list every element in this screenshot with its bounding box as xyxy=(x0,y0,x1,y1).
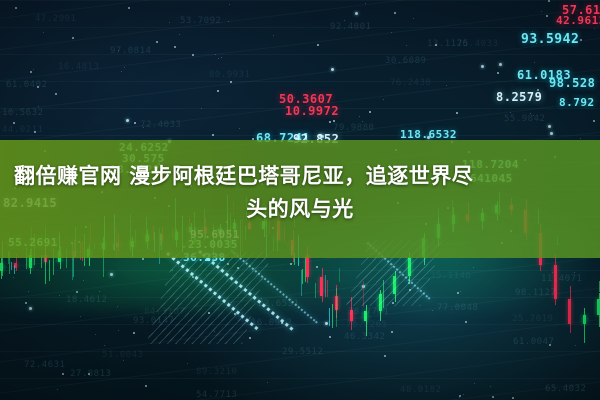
page-title-line1: 翻倍赚官网 漫步阿根廷巴塔哥尼亚，追逐世界尽 xyxy=(14,164,473,188)
page-title: 翻倍赚官网 漫步阿根廷巴塔哥尼亚，追逐世界尽 头的风与光 xyxy=(14,160,586,226)
screenshot-stage: 47.290197.081472.403316.481361.040253.70… xyxy=(0,0,600,400)
page-title-line2: 头的风与光 xyxy=(14,193,586,226)
